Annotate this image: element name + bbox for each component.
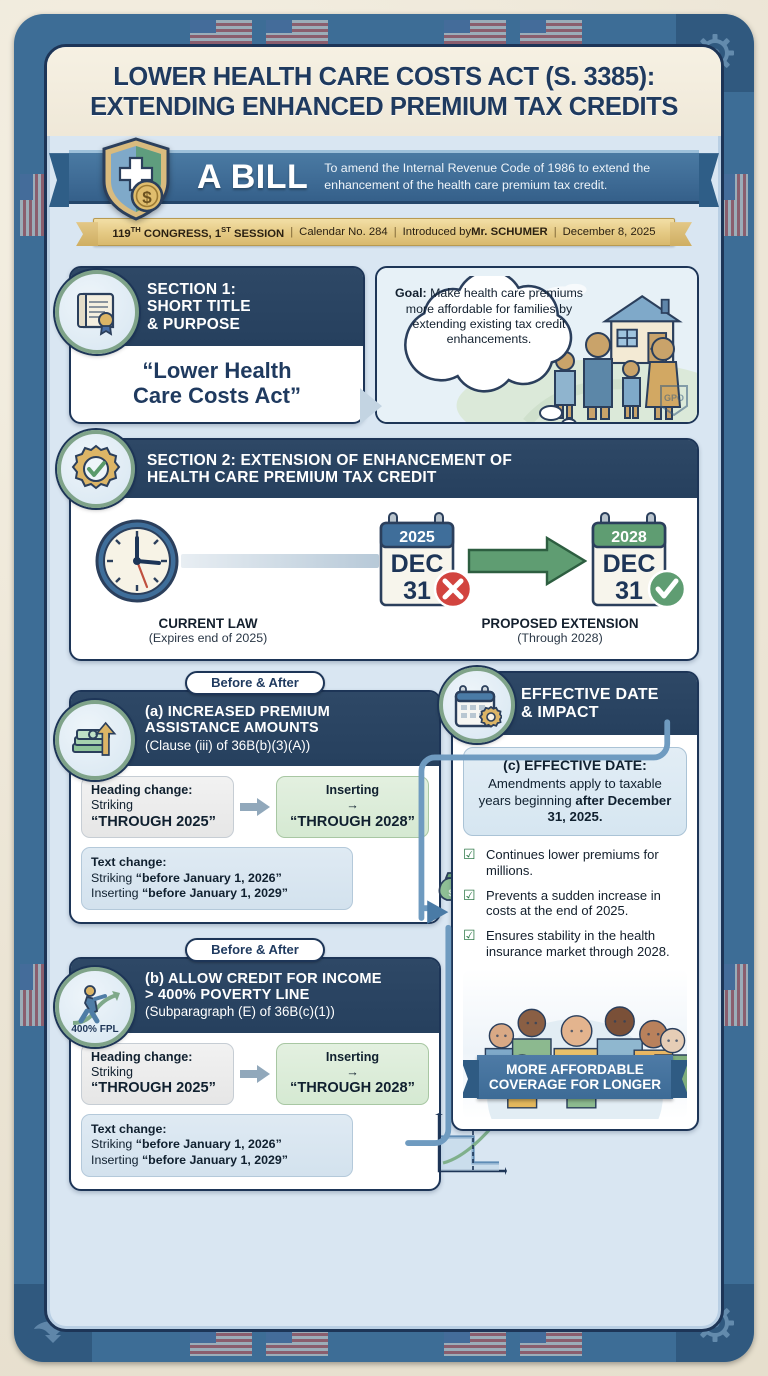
heading-change-row-a: Heading change: Striking “THROUGH 2025” … [81, 776, 429, 838]
short-title-line2: Care Costs Act” [81, 383, 353, 408]
scroll-seal-icon [55, 270, 139, 354]
list-item: ☑Prevents a sudden increase in costs at … [463, 888, 687, 920]
heading-change-label-a: Heading change: [91, 783, 224, 798]
subsection-a-title2: ASSISTANCE AMOUNTS [145, 720, 429, 736]
striking-value-b: “THROUGH 2025” [91, 1080, 224, 1098]
congress-rest: CONGRESS, 1 [141, 228, 221, 240]
section-1: SECTION 1: SHORT TITLE & PURPOSE “Lower … [69, 266, 699, 424]
inserting-label-a: Inserting [286, 783, 419, 798]
section-1-heading-line3: & PURPOSE [147, 316, 251, 333]
decorative-frame: LOWER HEALTH CARE COSTS ACT (S. 3385): E… [14, 14, 754, 1362]
subsection-b-title1: (b) ALLOW CREDIT FOR INCOME [145, 971, 429, 987]
timeline-caption-proposed: PROPOSED EXTENSION (Through 2028) [445, 616, 675, 645]
effective-date-box: (c) EFFECTIVE DATE: Amendments apply to … [463, 747, 687, 836]
subsection-b-title2: > 400% POVERTY LINE [145, 987, 429, 1003]
text-change-label-a: Text change: [91, 855, 343, 871]
clock-icon [89, 511, 185, 611]
effective-date-card: EFFECTIVE DATE & IMPACT (c) EFFECTIVE DA… [451, 671, 699, 1131]
striking-value-a: “THROUGH 2025” [91, 814, 224, 832]
svg-text:GPO: GPO [664, 393, 684, 403]
us-flag-icon [20, 964, 46, 1026]
section-1-heading-line1: SECTION 1: [147, 281, 251, 298]
text-change-label-b: Text change: [91, 1122, 343, 1138]
subsection-b-body: Heading change: Striking “THROUGH 2025” … [71, 1033, 439, 1189]
us-flag-icon [266, 20, 328, 46]
heading-change-label-b: Heading change: [91, 1050, 224, 1065]
person-climbing-arrow-icon: 400% FPL [55, 967, 135, 1047]
subsection-a-body: Heading change: Striking “THROUGH 2025” … [71, 766, 439, 922]
goal-illustration-panel: Goal: Make health care premiums more aff… [375, 266, 699, 424]
subsection-b-citation: (Subparagraph (E) of 36B(c)(1)) [145, 1004, 429, 1020]
us-flag-icon [722, 964, 748, 1026]
check-mark-icon: ☑ [463, 928, 479, 960]
text-change-striking-b: Striking “before January 1, 2026” [91, 1137, 343, 1153]
heading-change-row-b: Heading change: Striking “THROUGH 2025” … [81, 1043, 429, 1105]
inserting-arrow-a: → [286, 798, 419, 813]
page-title: LOWER HEALTH CARE COSTS ACT (S. 3385): E… [47, 47, 721, 136]
us-flag-icon [722, 174, 748, 236]
us-flag-icon [266, 1330, 328, 1356]
fpl-badge-label: 400% FPL [71, 1024, 118, 1035]
striking-label-a: Striking [91, 798, 224, 813]
calendar-gear-icon [439, 667, 515, 743]
ribbon-line1: MORE AFFORDABLE [489, 1062, 661, 1077]
introduced-by-prefix: Introduced by [403, 226, 471, 238]
inserting-value-a: “THROUGH 2028” [286, 814, 419, 832]
session-ordinal: ST [221, 225, 231, 234]
text-change-box-a: Text change: Striking “before January 1,… [81, 847, 353, 910]
before-after-pill-b: Before & After [185, 938, 325, 962]
us-flag-icon [520, 20, 582, 46]
calendar-proposed-day: 31 [615, 577, 643, 605]
family-photo-illustration: MORE AFFORDABLE COVERAGE FOR LONGER [463, 969, 687, 1119]
coverage-ribbon: MORE AFFORDABLE COVERAGE FOR LONGER [477, 1055, 673, 1099]
effective-date-body: (c) EFFECTIVE DATE: Amendments apply to … [453, 735, 697, 1129]
us-flag-icon [520, 1330, 582, 1356]
section-2-heading-line1: SECTION 2: EXTENSION OF ENHANCEMENT OF [147, 452, 512, 469]
inserting-arrow-b: → [286, 1065, 419, 1080]
ribbon-separator: | [290, 226, 293, 238]
inserting-label-b: Inserting [286, 1050, 419, 1065]
section-2-card: SECTION 2: EXTENSION OF ENHANCEMENT OF H… [69, 438, 699, 661]
calendar-proposed: 2028 DEC 31 [585, 507, 681, 615]
goal-label: Goal: [395, 286, 427, 300]
effective-title1: EFFECTIVE DATE [521, 686, 659, 704]
goal-text: Goal: Make health care premiums more aff… [389, 286, 589, 348]
effective-box-heading: (c) EFFECTIVE DATE: [472, 757, 678, 775]
text-change-inserting-b: Inserting “before January 1, 2029” [91, 1153, 343, 1169]
ribbon-line2: COVERAGE FOR LONGER [489, 1077, 661, 1092]
timeline-track [181, 554, 379, 568]
subsection-a-citation: (Clause (iii) of 36B(b)(3)(A)) [145, 738, 429, 754]
subsection-b-card: 400% FPL (b) ALLOW CREDIT FOR INCOME > 4… [69, 957, 441, 1191]
bullet-text: Prevents a sudden increase in costs at t… [486, 888, 687, 920]
calendar-current-day: 31 [403, 577, 431, 605]
calendar-current-law: 2025 DEC 31 [373, 507, 469, 615]
sponsor-name: Mr. SCHUMER [471, 226, 548, 238]
us-flag-icon [190, 20, 252, 46]
inserting-value-b: “THROUGH 2028” [286, 1080, 419, 1098]
money-stack-up-arrow-icon [55, 700, 135, 780]
bill-description: To amend the Internal Revenue Code of 19… [324, 160, 694, 193]
effective-title2: & IMPACT [521, 704, 659, 722]
check-mark-icon: ☑ [463, 888, 479, 920]
ribbon-separator: | [554, 226, 557, 238]
thought-bubbles-icon [537, 404, 581, 424]
striking-box-a: Heading change: Striking “THROUGH 2025” [81, 776, 234, 838]
svg-text:$: $ [142, 188, 152, 207]
us-flag-icon [190, 1330, 252, 1356]
congress-ribbon: 119TH CONGRESS, 1ST SESSION | Calendar N… [67, 218, 701, 252]
subsection-a-card: (a) INCREASED PREMIUM ASSISTANCE AMOUNTS… [69, 690, 441, 924]
list-item: ☑Continues lower premiums for millions. [463, 847, 687, 879]
check-circle-icon [645, 567, 689, 611]
lower-section: Before & After [69, 671, 699, 1190]
health-shield-dollar-icon: $ [99, 136, 173, 222]
impact-column: EFFECTIVE DATE & IMPACT (c) EFFECTIVE DA… [451, 671, 699, 1131]
calendar-proposed-year: 2028 [611, 529, 647, 546]
title-line-1: LOWER HEALTH CARE COSTS ACT (S. 3385): [113, 63, 655, 91]
title-line-2: EXTENDING ENHANCED PREMIUM TAX CREDITS [90, 93, 678, 121]
text-change-striking-a: Striking “before January 1, 2026” [91, 871, 343, 887]
introduced-date: December 8, 2025 [563, 226, 656, 238]
bill-banner: A BILL To amend the Internal Revenue Cod… [47, 144, 721, 210]
x-circle-icon [431, 567, 475, 611]
section-1-heading-line2: SHORT TITLE [147, 298, 251, 315]
congress-number: 119 [112, 228, 130, 240]
extension-arrow-icon [467, 534, 587, 588]
section-1-body: “Lower Health Care Costs Act” [71, 346, 363, 422]
gear-check-icon [57, 430, 135, 508]
caption-proposed-sub: (Through 2028) [445, 631, 675, 645]
infographic-page: LOWER HEALTH CARE COSTS ACT (S. 3385): E… [0, 0, 768, 1376]
session-rest: SESSION [231, 228, 284, 240]
section-2-heading-line2: HEALTH CARE PREMIUM TAX CREDIT [147, 469, 512, 486]
inserting-box-b: Inserting → “THROUGH 2028” [276, 1043, 429, 1105]
bill-label: A BILL [197, 158, 308, 197]
bullet-text: Continues lower premiums for millions. [486, 847, 687, 879]
congress-ordinal: TH [131, 225, 141, 234]
text-change-box-b: Text change: Striking “before January 1,… [81, 1114, 353, 1177]
section-2-timeline: 2025 DEC 31 [71, 498, 697, 659]
change-arrow-icon [240, 798, 270, 816]
section-2-heading: SECTION 2: EXTENSION OF ENHANCEMENT OF H… [71, 440, 697, 498]
change-arrow-icon [240, 1065, 270, 1083]
subsection-a-title1: (a) INCREASED PREMIUM [145, 704, 429, 720]
list-item: ☑Ensures stability in the health insuran… [463, 928, 687, 960]
striking-label-b: Striking [91, 1065, 224, 1080]
short-title-line1: “Lower Health [81, 358, 353, 383]
striking-box-b: Heading change: Striking “THROUGH 2025” [81, 1043, 234, 1105]
caption-current-sub: (Expires end of 2025) [93, 631, 323, 645]
text-change-inserting-a: Inserting “before January 1, 2029” [91, 886, 343, 902]
calendar-number: Calendar No. 284 [299, 226, 388, 238]
timeline-caption-current: CURRENT LAW (Expires end of 2025) [93, 616, 323, 645]
ribbon-separator: | [394, 226, 397, 238]
calendar-current-year: 2025 [399, 529, 435, 546]
bullet-text: Ensures stability in the health insuranc… [486, 928, 687, 960]
content-panel: LOWER HEALTH CARE COSTS ACT (S. 3385): E… [44, 44, 724, 1332]
us-flag-icon [444, 1330, 506, 1356]
gpo-mark-icon: GPO [659, 384, 689, 416]
inserting-box-a: Inserting → “THROUGH 2028” [276, 776, 429, 838]
caption-current-title: CURRENT LAW [93, 616, 323, 631]
impact-bullets: ☑Continues lower premiums for millions. … [463, 847, 687, 960]
goal-body: Make health care premiums more affordabl… [406, 286, 583, 346]
caption-proposed-title: PROPOSED EXTENSION [445, 616, 675, 631]
us-flag-icon [20, 174, 46, 236]
check-mark-icon: ☑ [463, 847, 479, 879]
section-1-card: SECTION 1: SHORT TITLE & PURPOSE “Lower … [69, 266, 365, 424]
us-flag-icon [444, 20, 506, 46]
amendments-column: Before & After [69, 671, 441, 1190]
before-after-pill-a: Before & After [185, 671, 325, 695]
